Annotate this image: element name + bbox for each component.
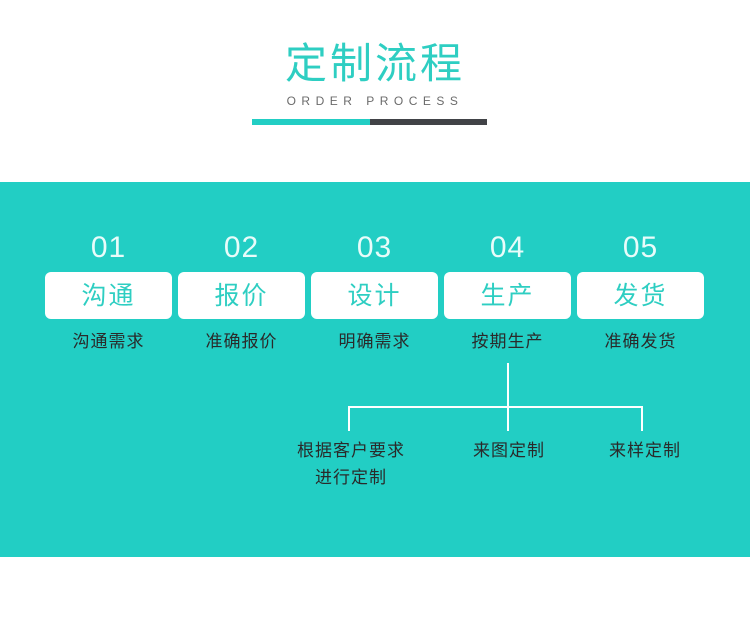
process-step-1[interactable]: 01 沟通 沟通需求 <box>45 230 172 353</box>
process-step-3[interactable]: 03 设计 明确需求 <box>311 230 438 353</box>
title-divider-teal-segment <box>252 119 370 125</box>
customization-note-1: 根据客户要求 进行定制 <box>261 437 441 491</box>
step-card-label: 生产 <box>480 281 534 311</box>
step-sub-label: 按期生产 <box>444 331 571 353</box>
step-number: 03 <box>311 230 438 272</box>
customization-note-1-line2: 进行定制 <box>261 464 441 491</box>
step-card-label: 设计 <box>347 281 401 311</box>
process-panel: 01 沟通 沟通需求 02 报价 准确报价 03 设计 明确需求 04 生产 <box>0 182 750 557</box>
step-sub-label: 沟通需求 <box>45 331 172 353</box>
step-card[interactable]: 设计 <box>311 272 438 319</box>
process-step-2[interactable]: 02 报价 准确报价 <box>178 230 305 353</box>
title-divider-dark-segment <box>370 119 487 125</box>
step-card[interactable]: 沟通 <box>45 272 172 319</box>
customization-note-1-line1: 根据客户要求 <box>261 437 441 464</box>
step-card[interactable]: 生产 <box>444 272 571 319</box>
process-step-4[interactable]: 04 生产 按期生产 <box>444 230 571 353</box>
step-number: 05 <box>577 230 704 272</box>
step-number: 01 <box>45 230 172 272</box>
step-card-label: 沟通 <box>81 281 135 311</box>
step-sub-label: 准确发货 <box>577 331 704 353</box>
page-title: 定制流程 <box>0 38 750 90</box>
process-steps: 01 沟通 沟通需求 02 报价 准确报价 03 设计 明确需求 04 生产 <box>45 230 705 370</box>
step-card-label: 报价 <box>214 281 268 311</box>
step-card-label: 发货 <box>613 281 667 311</box>
step-number: 02 <box>178 230 305 272</box>
step-number: 04 <box>444 230 571 272</box>
title-divider <box>252 119 487 125</box>
customization-note-2: 来图定制 <box>434 437 584 464</box>
process-step-5[interactable]: 05 发货 准确发货 <box>577 230 704 353</box>
customization-note-3-line1: 来样定制 <box>570 437 720 464</box>
customization-note-3: 来样定制 <box>570 437 720 464</box>
step-card[interactable]: 发货 <box>577 272 704 319</box>
step-sub-label: 准确报价 <box>178 331 305 353</box>
page-header: 定制流程 ORDER PROCESS <box>0 0 750 182</box>
page-subtitle: ORDER PROCESS <box>0 93 750 109</box>
customization-note-2-line1: 来图定制 <box>434 437 584 464</box>
step-sub-label: 明确需求 <box>311 331 438 353</box>
step-card[interactable]: 报价 <box>178 272 305 319</box>
